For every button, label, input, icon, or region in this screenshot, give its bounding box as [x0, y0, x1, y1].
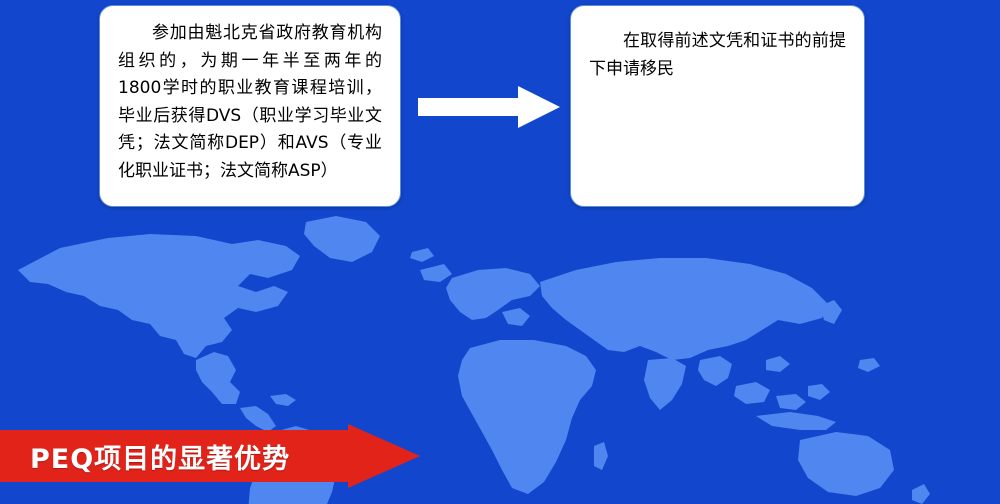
- title-banner-label: PEQ项目的显著优势: [30, 434, 360, 478]
- flow-arrow-icon: [418, 86, 560, 128]
- slide-canvas: 参加由魁北克省政府教育机构组织的，为期一年半至两年的1800学时的职业教育课程培…: [0, 0, 1000, 504]
- flow-step-2-box[interactable]: 在取得前述文凭和证书的前提下申请移民: [570, 5, 865, 207]
- flow-step-2-text: 在取得前述文凭和证书的前提下申请移民: [571, 6, 864, 93]
- flow-step-1-text: 参加由魁北克省政府教育机构组织的，为期一年半至两年的1800学时的职业教育课程培…: [100, 6, 400, 195]
- flow-step-1-box[interactable]: 参加由魁北克省政府教育机构组织的，为期一年半至两年的1800学时的职业教育课程培…: [99, 5, 401, 207]
